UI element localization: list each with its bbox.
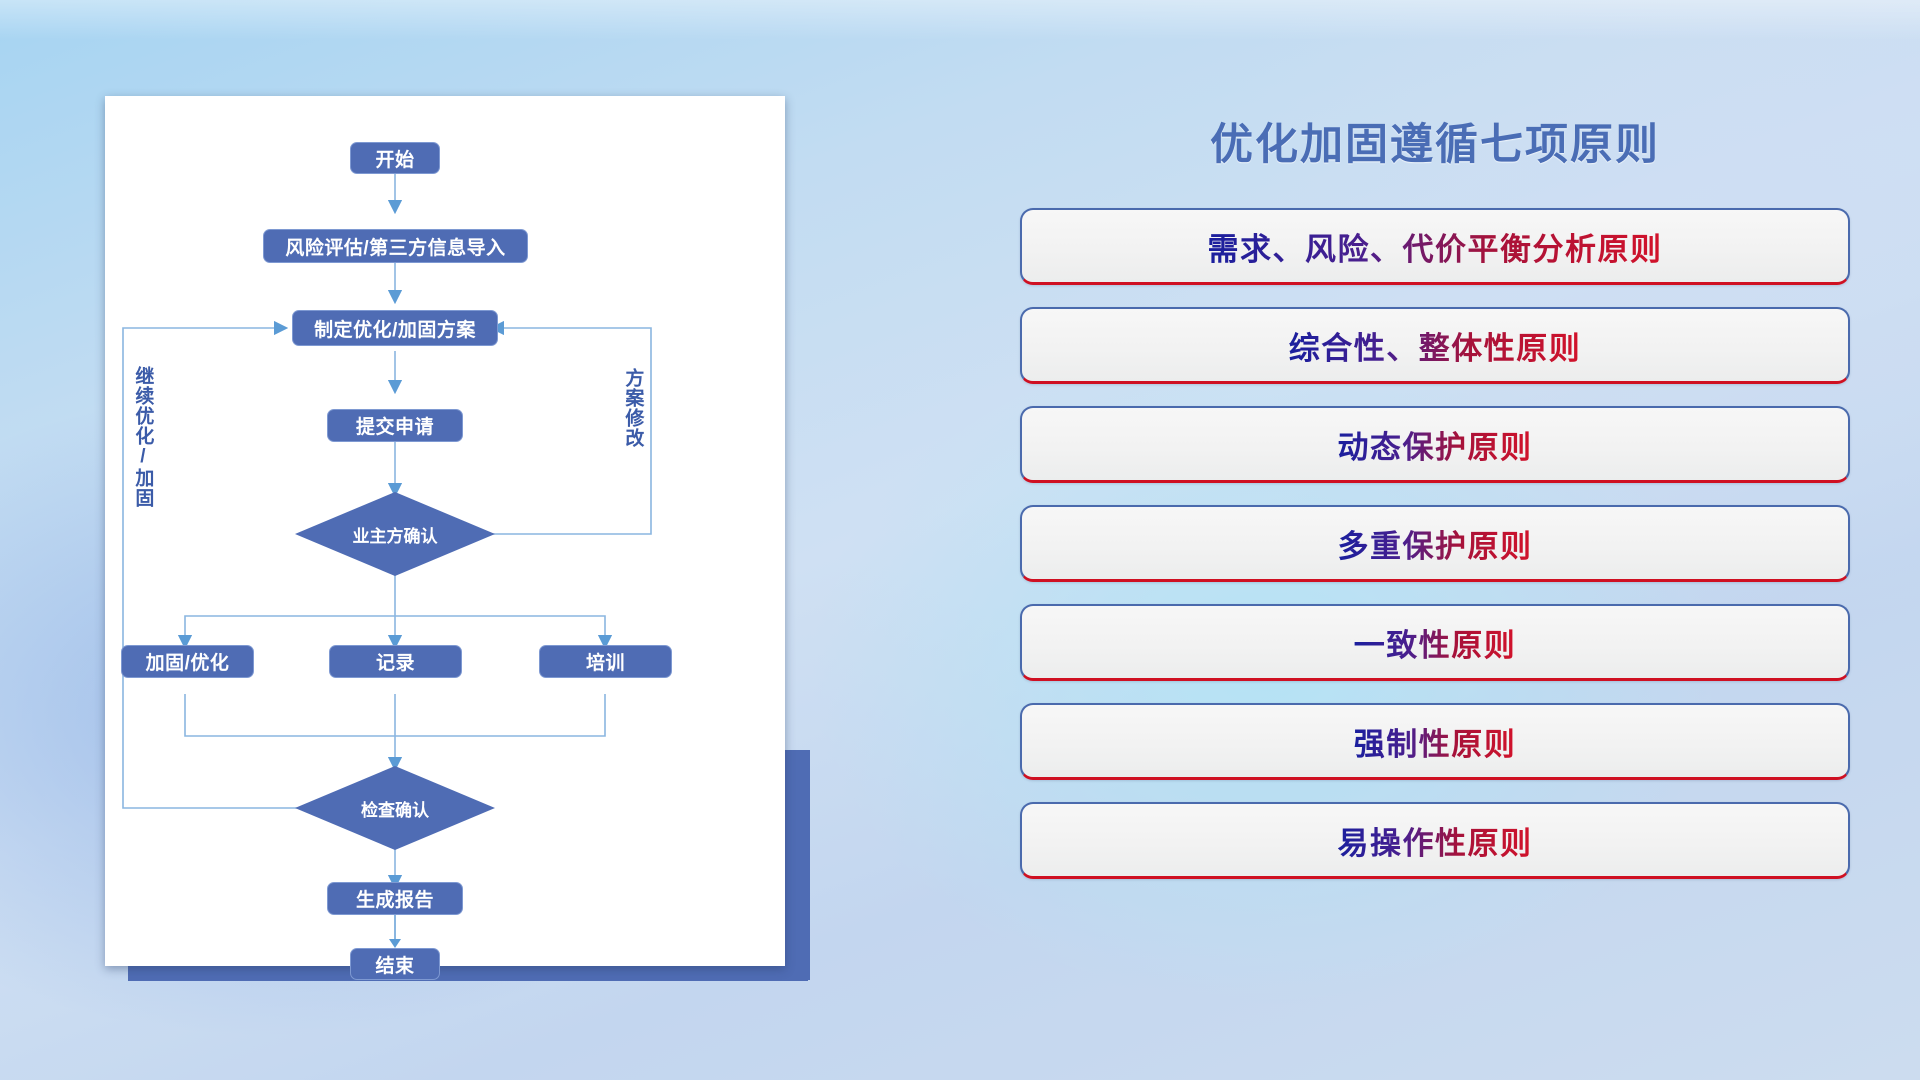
principle-item-label: 一致性原则 <box>1354 620 1517 665</box>
flow-node-record-label: 记录 <box>376 648 415 675</box>
flow-node-owner-confirm-label: 业主方确认 <box>353 522 438 547</box>
principle-item[interactable]: 动态保护原则 <box>1020 406 1850 483</box>
flow-node-risk-assessment-label: 风险评估/第三方信息导入 <box>285 233 505 260</box>
flow-node-reinforce-optimize-label: 加固/优化 <box>146 648 230 675</box>
flow-node-inspection-confirm-label: 检查确认 <box>361 796 429 821</box>
flow-node-record[interactable]: 记录 <box>329 645 462 678</box>
flow-node-generate-report-label: 生成报告 <box>356 885 434 912</box>
principle-item[interactable]: 一致性原则 <box>1020 604 1850 681</box>
flow-node-risk-assessment[interactable]: 风险评估/第三方信息导入 <box>263 229 528 263</box>
edge-label-continue-optimize-text: 继续优化/加固 <box>132 366 153 508</box>
flowchart-card: 开始 风险评估/第三方信息导入 制定优化/加固方案 提交申请 业主方确认 加固/… <box>105 96 785 966</box>
principle-item-label: 需求、风险、代价平衡分析原则 <box>1208 224 1663 269</box>
panel-title: 优化加固遵循七项原则 <box>1020 110 1850 172</box>
principle-item-label: 多重保护原则 <box>1338 521 1533 566</box>
principle-item-label: 综合性、整体性原则 <box>1289 323 1582 368</box>
flow-node-start-label: 开始 <box>375 145 414 172</box>
flow-node-make-plan[interactable]: 制定优化/加固方案 <box>292 310 498 346</box>
flow-node-make-plan-label: 制定优化/加固方案 <box>314 315 476 342</box>
connector-report-to-end <box>394 915 396 941</box>
principles-panel: 优化加固遵循七项原则 需求、风险、代价平衡分析原则 综合性、整体性原则 动态保护… <box>1020 96 1850 996</box>
principle-item-label: 强制性原则 <box>1354 719 1517 764</box>
flow-node-end-label: 结束 <box>375 951 414 978</box>
connector-report-to-end-arrow <box>389 939 401 948</box>
principle-item[interactable]: 多重保护原则 <box>1020 505 1850 582</box>
principle-item[interactable]: 强制性原则 <box>1020 703 1850 780</box>
principle-item[interactable]: 综合性、整体性原则 <box>1020 307 1850 384</box>
flow-node-end[interactable]: 结束 <box>350 948 440 980</box>
flow-node-training-label: 培训 <box>586 648 625 675</box>
flow-node-submit-application[interactable]: 提交申请 <box>327 409 463 442</box>
principle-list: 需求、风险、代价平衡分析原则 综合性、整体性原则 动态保护原则 多重保护原则 一… <box>1020 208 1850 901</box>
flow-node-submit-application-label: 提交申请 <box>356 412 434 439</box>
flow-node-generate-report[interactable]: 生成报告 <box>327 882 463 915</box>
principle-item-label: 易操作性原则 <box>1338 818 1533 863</box>
flow-node-start[interactable]: 开始 <box>350 142 440 174</box>
principle-item[interactable]: 需求、风险、代价平衡分析原则 <box>1020 208 1850 285</box>
edge-label-continue-optimize: 继续优化/加固 <box>133 366 152 508</box>
principle-item[interactable]: 易操作性原则 <box>1020 802 1850 879</box>
edge-label-plan-revision: 方案修改 <box>623 368 642 448</box>
principle-item-label: 动态保护原则 <box>1338 422 1533 467</box>
flow-node-reinforce-optimize[interactable]: 加固/优化 <box>121 645 254 678</box>
edge-label-plan-revision-text: 方案修改 <box>622 368 643 448</box>
flow-node-training[interactable]: 培训 <box>539 645 672 678</box>
